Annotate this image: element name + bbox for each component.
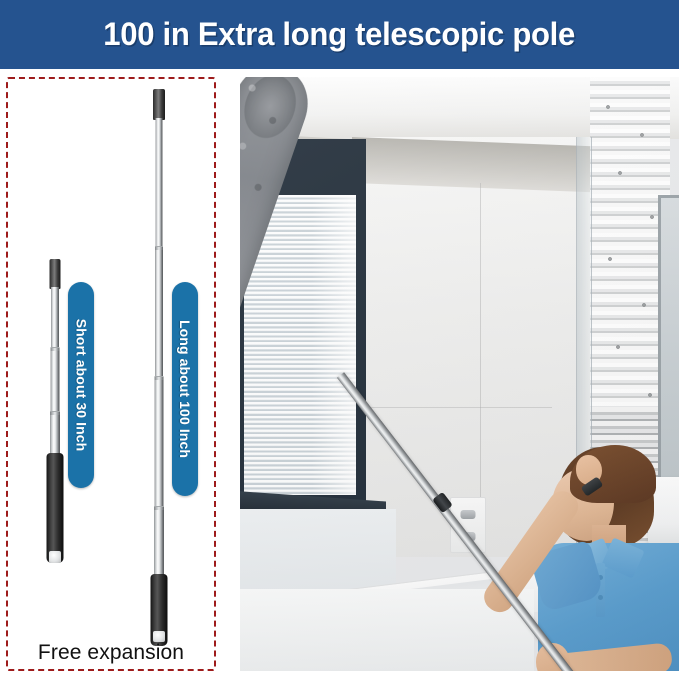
long-pole-shaft-1 [156, 118, 163, 248]
woman-shirt-button-bottom [598, 595, 603, 600]
tile-seam-vertical [480, 183, 481, 513]
shower-valve-knob-top [461, 510, 476, 519]
lifestyle-photo [240, 77, 679, 671]
comparison-panel: Short about 30 Inch Long about 100 Inch … [6, 77, 216, 671]
product-infographic: 100 in Extra long telescopic pole Short … [0, 0, 679, 677]
tile-seam-horizontal [352, 407, 552, 408]
short-pole-shaft-lower [50, 415, 60, 457]
short-pole-shaft-upper [51, 287, 59, 349]
badge-short-pole: Short about 30 Inch [68, 282, 94, 488]
badge-long-label: Long about 100 Inch [177, 320, 193, 458]
header-banner: 100 in Extra long telescopic pole [0, 0, 679, 69]
long-pole-shaft-3 [155, 380, 164, 508]
badge-short-label: Short about 30 Inch [73, 319, 89, 452]
short-pole-tip [50, 259, 61, 289]
long-pole-tip [153, 89, 165, 120]
mirror [658, 195, 679, 485]
long-pole-shaft-2 [155, 250, 163, 378]
short-pole-grip [47, 453, 64, 563]
panel-caption: Free expansion [8, 641, 214, 665]
window-daylight-glow [312, 195, 356, 495]
badge-long-pole: Long about 100 Inch [172, 282, 198, 496]
short-pole-end-cap [49, 551, 61, 563]
page-title: 100 in Extra long telescopic pole [104, 16, 576, 53]
short-pole-shaft-mid [51, 351, 60, 413]
